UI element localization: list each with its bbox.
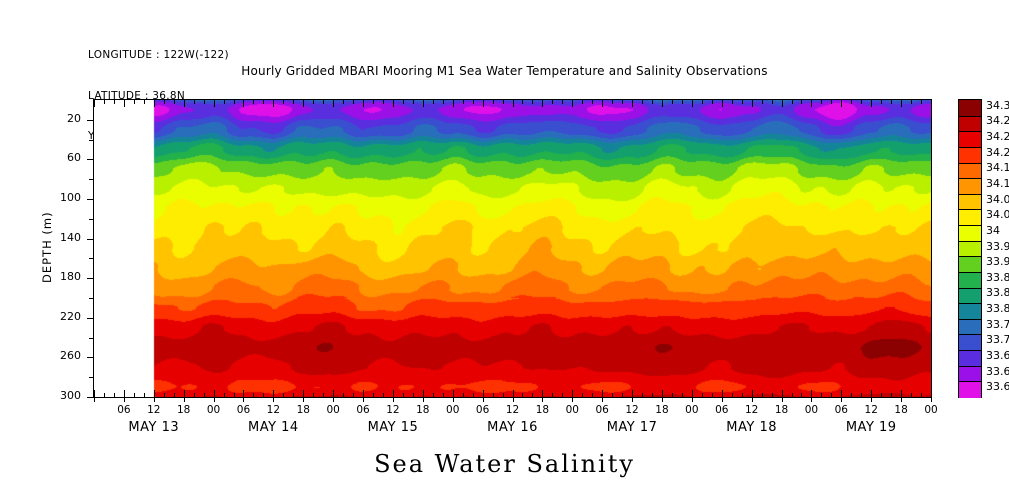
axis-tick [164, 393, 165, 397]
axis-tick [821, 100, 822, 104]
axis-tick [522, 100, 523, 104]
axis-tick [243, 397, 244, 402]
axis-tick [273, 397, 274, 402]
axis-tick [652, 100, 653, 104]
axis-tick [363, 100, 364, 107]
axis-tick [194, 100, 195, 104]
salinity-heatmap-canvas [94, 100, 931, 397]
axis-tick [453, 390, 454, 397]
x-day-label: MAY 19 [811, 420, 931, 435]
axis-tick [662, 397, 663, 402]
axis-tick [87, 199, 93, 200]
axis-tick [293, 100, 294, 104]
axis-tick [393, 397, 394, 402]
axis-tick [841, 397, 842, 402]
axis-tick [174, 393, 175, 397]
axis-tick [642, 393, 643, 397]
y-tick-label: 60 [41, 151, 81, 164]
axis-tick [493, 393, 494, 397]
chart-title: Hourly Gridded MBARI Mooring M1 Sea Wate… [0, 64, 1009, 78]
x-hour-label: 00 [677, 404, 707, 416]
axis-tick [89, 298, 93, 299]
axis-tick [572, 397, 573, 402]
colorbar-tick-label: 33.64 [986, 365, 1009, 378]
x-day-label: MAY 18 [692, 420, 812, 435]
axis-tick [253, 393, 254, 397]
axis-tick [94, 100, 95, 107]
axis-tick [453, 100, 454, 107]
colorbar-tick-label: 34.12 [986, 177, 1009, 190]
axis-tick [214, 397, 215, 402]
axis-tick [333, 100, 334, 107]
axis-tick [443, 393, 444, 397]
x-hour-label: 06 [468, 404, 498, 416]
axis-tick [532, 100, 533, 104]
axis-tick [293, 393, 294, 397]
axis-tick [114, 100, 115, 104]
axis-tick [174, 100, 175, 104]
x-hour-label: 06 [109, 404, 139, 416]
axis-tick [94, 397, 95, 402]
axis-tick [752, 390, 753, 397]
x-hour-label: 18 [767, 404, 797, 416]
axis-tick [762, 393, 763, 397]
x-day-label: MAY 13 [94, 420, 214, 435]
axis-tick [333, 390, 334, 397]
axis-tick [901, 100, 902, 107]
axis-tick [692, 390, 693, 397]
axis-tick [782, 390, 783, 397]
axis-tick [263, 100, 264, 104]
axis-tick [94, 390, 95, 397]
axis-tick [134, 100, 135, 104]
axis-tick [871, 390, 872, 397]
axis-tick [463, 393, 464, 397]
x-day-label: MAY 15 [333, 420, 453, 435]
x-hour-label: 06 [587, 404, 617, 416]
axis-tick [353, 393, 354, 397]
axis-tick [493, 100, 494, 104]
axis-tick [782, 397, 783, 402]
axis-tick [542, 100, 543, 107]
axis-tick [353, 100, 354, 104]
axis-tick [702, 393, 703, 397]
axis-tick [154, 390, 155, 397]
x-hour-label: 12 [737, 404, 767, 416]
x-hour-label: 00 [796, 404, 826, 416]
axis-tick [87, 120, 93, 121]
axis-tick [214, 390, 215, 397]
axis-tick [692, 397, 693, 402]
axis-tick [413, 100, 414, 104]
y-tick-label: 220 [41, 310, 81, 323]
axis-tick [154, 100, 155, 107]
axis-tick [692, 100, 693, 107]
axis-tick [831, 393, 832, 397]
axis-tick [931, 390, 932, 397]
axis-tick [313, 100, 314, 104]
axis-tick [89, 179, 93, 180]
axis-tick [204, 100, 205, 104]
axis-tick [861, 100, 862, 104]
axis-tick [413, 393, 414, 397]
axis-tick [811, 397, 812, 402]
axis-tick [642, 100, 643, 104]
axis-tick [224, 100, 225, 104]
axis-tick [582, 393, 583, 397]
axis-tick [363, 397, 364, 402]
y-tick-label: 260 [41, 349, 81, 362]
axis-tick [333, 397, 334, 402]
x-hour-label: 18 [288, 404, 318, 416]
axis-tick [89, 258, 93, 259]
x-hour-label: 12 [378, 404, 408, 416]
x-hour-label: 00 [438, 404, 468, 416]
x-hour-label: 18 [886, 404, 916, 416]
axis-tick [572, 390, 573, 397]
axis-tick [393, 390, 394, 397]
axis-tick [513, 100, 514, 107]
x-hour-label: 18 [169, 404, 199, 416]
axis-tick [363, 390, 364, 397]
x-hour-label: 00 [318, 404, 348, 416]
axis-tick [343, 393, 344, 397]
axis-tick [552, 393, 553, 397]
x-hour-label: 06 [826, 404, 856, 416]
axis-tick [632, 390, 633, 397]
axis-tick [672, 393, 673, 397]
axis-tick [592, 393, 593, 397]
x-hour-label: 12 [617, 404, 647, 416]
axis-tick [841, 100, 842, 107]
axis-tick [154, 397, 155, 402]
axis-tick [871, 100, 872, 107]
axis-tick [612, 393, 613, 397]
axis-tick [433, 100, 434, 104]
axis-tick [891, 100, 892, 104]
x-hour-label: 12 [856, 404, 886, 416]
axis-tick [682, 100, 683, 104]
axis-tick [742, 393, 743, 397]
axis-tick [772, 393, 773, 397]
axis-tick [134, 393, 135, 397]
axis-tick [871, 397, 872, 402]
axis-tick [423, 390, 424, 397]
colorbar-tick-label: 34.32 [986, 99, 1009, 112]
axis-tick [632, 397, 633, 402]
axis-tick [224, 393, 225, 397]
axis-tick [712, 393, 713, 397]
axis-tick [931, 397, 932, 402]
x-hour-label: 12 [139, 404, 169, 416]
axis-tick [772, 100, 773, 104]
axis-tick [622, 393, 623, 397]
axis-tick [891, 393, 892, 397]
axis-tick [792, 100, 793, 104]
axis-tick [443, 100, 444, 104]
y-tick-label: 140 [41, 231, 81, 244]
axis-tick [712, 100, 713, 104]
axis-tick [124, 390, 125, 397]
axis-tick [562, 393, 563, 397]
axis-tick [283, 393, 284, 397]
axis-tick [702, 100, 703, 104]
axis-tick [612, 100, 613, 104]
axis-tick [323, 100, 324, 104]
axis-tick [861, 393, 862, 397]
x-day-label: MAY 17 [572, 420, 692, 435]
colorbar-tick-label: 34 [986, 224, 1000, 237]
axis-tick [164, 100, 165, 104]
colorbar-tick-label: 33.84 [986, 286, 1009, 299]
axis-tick [582, 100, 583, 104]
axis-tick [313, 393, 314, 397]
axis-tick [184, 390, 185, 397]
axis-tick [782, 100, 783, 107]
axis-tick [722, 390, 723, 397]
axis-tick [89, 219, 93, 220]
axis-tick [542, 397, 543, 402]
colorbar-tick-label: 34.28 [986, 114, 1009, 127]
axis-tick [513, 397, 514, 402]
axis-tick [87, 397, 93, 398]
colorbar-tick-label: 34.2 [986, 146, 1009, 159]
axis-tick [792, 393, 793, 397]
colorbar-tick-label: 33.76 [986, 318, 1009, 331]
axis-tick [911, 100, 912, 104]
axis-tick [532, 393, 533, 397]
axis-tick [194, 393, 195, 397]
axis-tick [762, 100, 763, 104]
colorbar-tick-label: 34.04 [986, 208, 1009, 221]
y-tick-label: 180 [41, 270, 81, 283]
axis-tick [921, 100, 922, 104]
axis-tick [124, 100, 125, 107]
axis-tick [602, 397, 603, 402]
axis-tick [662, 390, 663, 397]
axis-tick [732, 100, 733, 104]
axis-tick [483, 100, 484, 107]
x-hour-label: 06 [228, 404, 258, 416]
axis-tick [433, 393, 434, 397]
axis-tick [243, 390, 244, 397]
axis-tick [652, 393, 653, 397]
axis-tick [473, 100, 474, 104]
plot-area [93, 99, 932, 398]
axis-tick [303, 390, 304, 397]
x-day-label: MAY 14 [213, 420, 333, 435]
axis-tick [89, 338, 93, 339]
axis-tick [931, 100, 932, 107]
colorbar-tick-label: 34.24 [986, 130, 1009, 143]
axis-tick [662, 100, 663, 107]
colorbar-tick-label: 33.6 [986, 380, 1009, 393]
axis-tick [144, 393, 145, 397]
axis-tick [463, 100, 464, 104]
axis-tick [503, 100, 504, 104]
axis-tick [901, 390, 902, 397]
axis-tick [542, 390, 543, 397]
x-hour-label: 06 [707, 404, 737, 416]
axis-tick [752, 100, 753, 107]
axis-tick [214, 100, 215, 107]
axis-tick [732, 393, 733, 397]
axis-tick [204, 393, 205, 397]
x-day-label: MAY 16 [453, 420, 573, 435]
axis-tick [841, 390, 842, 397]
axis-tick [552, 100, 553, 104]
axis-tick [104, 393, 105, 397]
x-hour-label: 00 [916, 404, 946, 416]
axis-tick [672, 100, 673, 104]
colorbar-tick-label: 34.16 [986, 161, 1009, 174]
axis-tick [682, 393, 683, 397]
axis-tick [124, 397, 125, 402]
axis-tick [273, 390, 274, 397]
colorbar-tick-label: 33.72 [986, 333, 1009, 346]
axis-tick [881, 100, 882, 104]
y-tick-label: 100 [41, 191, 81, 204]
axis-tick [234, 100, 235, 104]
axis-tick [503, 393, 504, 397]
axis-tick [87, 357, 93, 358]
axis-tick [87, 278, 93, 279]
x-hour-label: 06 [348, 404, 378, 416]
axis-tick [87, 318, 93, 319]
axis-tick [742, 100, 743, 104]
axis-tick [89, 377, 93, 378]
axis-tick [562, 100, 563, 104]
axis-tick [572, 100, 573, 107]
x-hour-label: 12 [258, 404, 288, 416]
axis-tick [273, 100, 274, 107]
axis-tick [901, 397, 902, 402]
axis-tick [323, 393, 324, 397]
axis-tick [881, 393, 882, 397]
y-tick-label: 300 [41, 389, 81, 402]
axis-tick [263, 393, 264, 397]
x-hour-label: 18 [408, 404, 438, 416]
axis-tick [911, 393, 912, 397]
axis-tick [722, 397, 723, 402]
axis-tick [453, 397, 454, 402]
axis-tick [831, 100, 832, 104]
variable-title: Sea Water Salinity [0, 450, 1009, 478]
axis-tick [114, 393, 115, 397]
axis-tick [752, 397, 753, 402]
axis-tick [592, 100, 593, 104]
axis-tick [483, 390, 484, 397]
axis-tick [483, 397, 484, 402]
colorbar-tick-label: 33.92 [986, 255, 1009, 268]
axis-tick [622, 100, 623, 104]
axis-tick [184, 397, 185, 402]
colorbar-tick-label: 34.08 [986, 193, 1009, 206]
axis-tick [423, 397, 424, 402]
axis-tick [373, 100, 374, 104]
colorbar-tick-label: 33.8 [986, 302, 1009, 315]
colorbar-tick-label: 33.96 [986, 240, 1009, 253]
axis-tick [403, 393, 404, 397]
axis-tick [801, 393, 802, 397]
x-hour-label: 18 [647, 404, 677, 416]
axis-tick [184, 100, 185, 107]
axis-tick [811, 390, 812, 397]
axis-tick [522, 393, 523, 397]
colorbar-tick-labels: 34.3234.2834.2434.234.1634.1234.0834.043… [958, 99, 1009, 400]
axis-tick [423, 100, 424, 107]
axis-tick [89, 140, 93, 141]
axis-tick [383, 100, 384, 104]
x-hour-label: 00 [557, 404, 587, 416]
x-hour-label: 18 [527, 404, 557, 416]
axis-tick [253, 100, 254, 104]
axis-tick [373, 393, 374, 397]
axis-tick [87, 239, 93, 240]
axis-tick [851, 393, 852, 397]
colorbar-tick-label: 33.68 [986, 349, 1009, 362]
axis-tick [473, 393, 474, 397]
x-hour-label: 00 [199, 404, 229, 416]
axis-tick [343, 100, 344, 104]
x-hour-label: 12 [498, 404, 528, 416]
axis-tick [513, 390, 514, 397]
axis-tick [602, 390, 603, 397]
axis-tick [811, 100, 812, 107]
axis-tick [921, 393, 922, 397]
axis-tick [234, 393, 235, 397]
axis-tick [403, 100, 404, 104]
axis-tick [722, 100, 723, 107]
axis-tick [243, 100, 244, 107]
axis-tick [283, 100, 284, 104]
axis-tick [632, 100, 633, 107]
longitude-text: LONGITUDE : 122W(-122) [88, 49, 229, 63]
axis-tick [87, 159, 93, 160]
axis-tick [303, 397, 304, 402]
axis-tick [383, 393, 384, 397]
axis-tick [144, 100, 145, 104]
axis-tick [851, 100, 852, 104]
axis-tick [393, 100, 394, 107]
axis-tick [821, 393, 822, 397]
axis-tick [602, 100, 603, 107]
axis-tick [104, 100, 105, 104]
axis-tick [303, 100, 304, 107]
axis-tick [801, 100, 802, 104]
colorbar-tick-label: 33.88 [986, 271, 1009, 284]
y-tick-label: 20 [41, 112, 81, 125]
